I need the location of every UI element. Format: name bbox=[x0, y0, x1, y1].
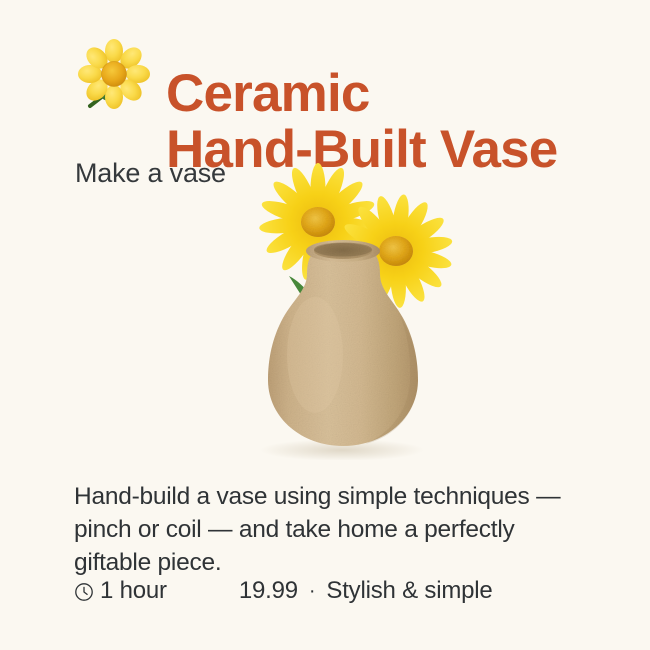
blossom-flower-icon bbox=[76, 36, 154, 114]
header: Ceramic Hand-Built Vase bbox=[0, 0, 650, 150]
duration-meta: 1 hour bbox=[74, 577, 167, 605]
course-promo-card: Ceramic Hand-Built Vase Make a vase bbox=[0, 0, 650, 650]
tag-label: Stylish & simple bbox=[326, 577, 492, 605]
price-label: 19.99 bbox=[239, 577, 298, 605]
clock-icon bbox=[74, 581, 94, 601]
subtitle: Make a vase bbox=[75, 158, 226, 189]
meta-row: 1 hour 19.99 · Stylish & simple bbox=[74, 573, 614, 609]
ceramic-vase-with-daisies-photo bbox=[215, 150, 485, 460]
duration-label: 1 hour bbox=[100, 577, 167, 605]
description-text: Hand-build a vase using simple technique… bbox=[74, 480, 604, 579]
meta-separator: · bbox=[309, 581, 315, 601]
